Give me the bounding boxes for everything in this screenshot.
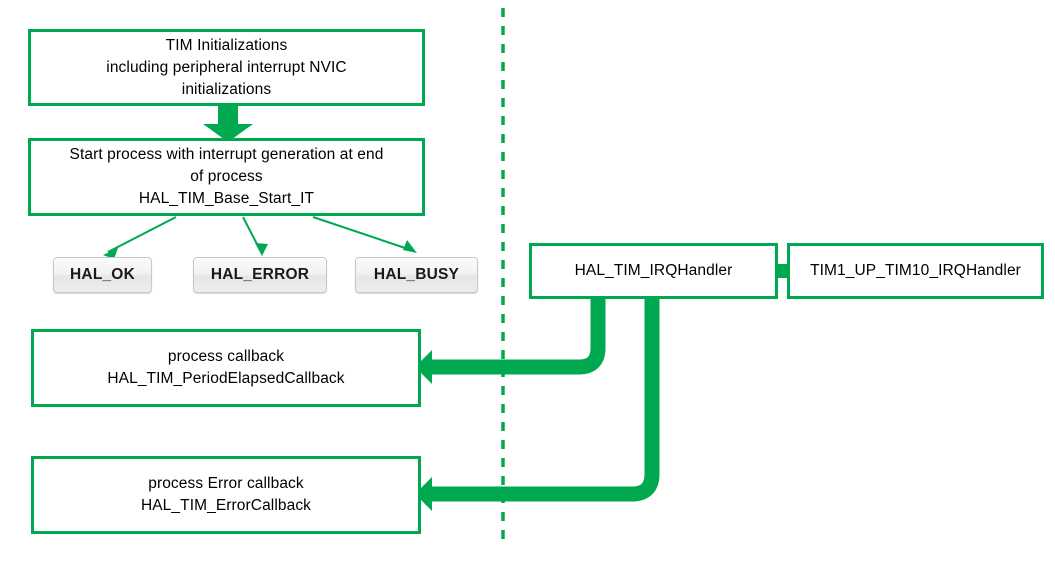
node-start-process[interactable]: Start process with interrupt generation … xyxy=(28,138,425,216)
status-badge-hal-busy-label: HAL_BUSY xyxy=(374,266,459,284)
arrow-start-to-hal-error xyxy=(243,217,268,256)
node-process-error-callback[interactable]: process Error callback HAL_TIM_ErrorCall… xyxy=(31,456,421,534)
arrow-start-to-hal-busy xyxy=(313,217,417,253)
diagram-canvas: TIM Initializations including peripheral… xyxy=(0,0,1055,566)
node-process-callback-label: process callback HAL_TIM_PeriodElapsedCa… xyxy=(107,346,344,390)
node-process-callback[interactable]: process callback HAL_TIM_PeriodElapsedCa… xyxy=(31,329,421,407)
node-tim1-up-tim10-irqhandler-label: TIM1_UP_TIM10_IRQHandler xyxy=(810,260,1021,282)
node-tim-initializations[interactable]: TIM Initializations including peripheral… xyxy=(28,29,425,106)
node-hal-tim-irqhandler-label: HAL_TIM_IRQHandler xyxy=(575,260,733,282)
node-tim1-up-tim10-irqhandler[interactable]: TIM1_UP_TIM10_IRQHandler xyxy=(787,243,1044,299)
node-tim-initializations-label: TIM Initializations including peripheral… xyxy=(106,35,346,101)
status-badge-hal-busy[interactable]: HAL_BUSY xyxy=(355,257,478,293)
node-start-process-label: Start process with interrupt generation … xyxy=(70,144,384,210)
status-badge-hal-ok[interactable]: HAL_OK xyxy=(53,257,152,293)
arrow-irqhandler-to-period-callback xyxy=(415,297,598,384)
status-badge-hal-error-label: HAL_ERROR xyxy=(211,266,309,284)
status-badge-hal-ok-label: HAL_OK xyxy=(70,266,135,284)
arrow-start-to-hal-ok xyxy=(103,217,176,259)
arrow-init-to-start xyxy=(203,106,253,142)
status-badge-hal-error[interactable]: HAL_ERROR xyxy=(193,257,327,293)
arrow-irqhandler-to-error-callback xyxy=(415,297,652,511)
node-hal-tim-irqhandler[interactable]: HAL_TIM_IRQHandler xyxy=(529,243,778,299)
node-process-error-callback-label: process Error callback HAL_TIM_ErrorCall… xyxy=(141,473,311,517)
